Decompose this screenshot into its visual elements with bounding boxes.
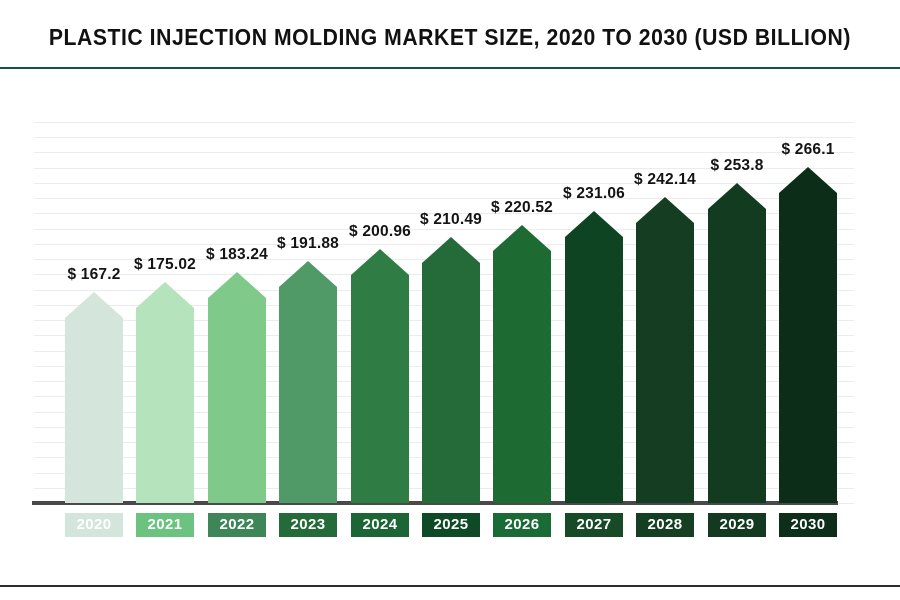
x-axis-label-2025[interactable]: 2025	[422, 513, 480, 537]
bar-value-label: $ 266.1	[781, 141, 834, 159]
bar-shape	[708, 183, 766, 503]
x-axis-label-2021[interactable]: 2021	[136, 513, 194, 537]
bar-shape	[636, 197, 694, 503]
x-axis-label-2024[interactable]: 2024	[351, 513, 409, 537]
x-axis-label-2027[interactable]: 2027	[565, 513, 623, 537]
chart-page: PLASTIC INJECTION MOLDING MARKET SIZE, 2…	[0, 0, 900, 600]
bar-value-label: $ 200.96	[349, 223, 411, 241]
bar-shape	[136, 282, 194, 503]
x-axis-label-2028[interactable]: 2028	[636, 513, 694, 537]
bar-value-label: $ 242.14	[634, 171, 696, 189]
bar[interactable]: $ 242.14	[636, 197, 694, 503]
bar[interactable]: $ 175.02	[136, 282, 194, 503]
bar-value-label: $ 175.02	[134, 256, 196, 274]
bar-value-label: $ 167.2	[67, 266, 120, 284]
x-axis-labels: 2020202120222023202420252026202720282029…	[0, 513, 900, 539]
bar-shape	[422, 237, 480, 503]
bar-value-label: $ 183.24	[206, 246, 268, 264]
bar[interactable]: $ 210.49	[422, 237, 480, 503]
bar-shape	[65, 292, 123, 503]
bar-shape	[779, 167, 837, 503]
x-axis-label-2030[interactable]: 2030	[779, 513, 837, 537]
x-axis-label-2026[interactable]: 2026	[493, 513, 551, 537]
bar[interactable]: $ 200.96	[351, 249, 409, 503]
bar-value-label: $ 191.88	[277, 235, 339, 253]
bar-shape	[493, 225, 551, 503]
bar-series: $ 167.2$ 175.02$ 183.24$ 191.88$ 200.96$…	[0, 0, 900, 600]
footer-divider	[0, 585, 900, 587]
x-axis-label-2023[interactable]: 2023	[279, 513, 337, 537]
bar-value-label: $ 210.49	[420, 211, 482, 229]
bar[interactable]: $ 167.2	[65, 292, 123, 503]
x-axis-label-2022[interactable]: 2022	[208, 513, 266, 537]
bar-shape	[351, 249, 409, 503]
bar[interactable]: $ 266.1	[779, 167, 837, 503]
bar[interactable]: $ 191.88	[279, 261, 337, 503]
x-axis-label-2029[interactable]: 2029	[708, 513, 766, 537]
bar-value-label: $ 253.8	[710, 157, 763, 175]
bar[interactable]: $ 183.24	[208, 272, 266, 503]
bar-value-label: $ 220.52	[491, 199, 553, 217]
bar-shape	[279, 261, 337, 503]
bar-value-label: $ 231.06	[563, 185, 625, 203]
bar-shape	[208, 272, 266, 503]
bar[interactable]: $ 220.52	[493, 225, 551, 503]
x-axis-label-2020[interactable]: 2020	[65, 513, 123, 537]
bar[interactable]: $ 253.8	[708, 183, 766, 503]
bar-shape	[565, 211, 623, 503]
bar[interactable]: $ 231.06	[565, 211, 623, 503]
